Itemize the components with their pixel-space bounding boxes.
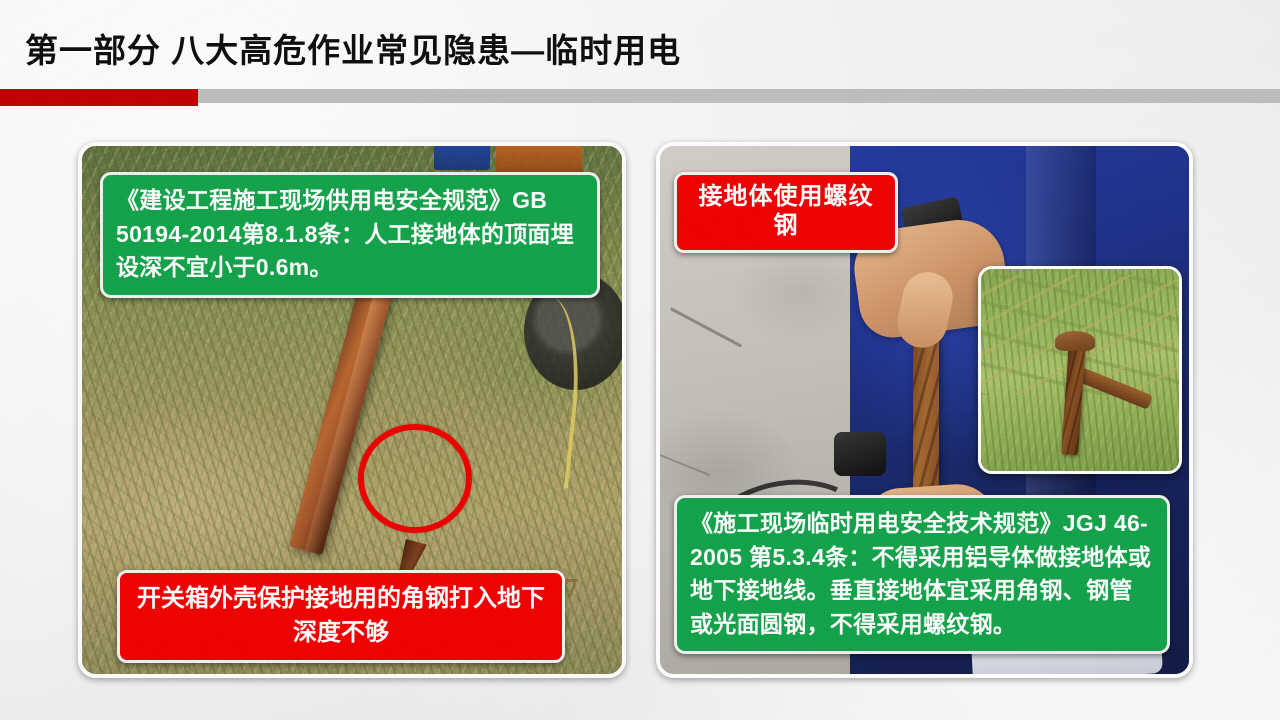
title-accent-rule <box>0 89 1280 106</box>
left-regulation-callout: 《建设工程施工现场供用电安全规范》GB 50194-2014第8.1.8条：人工… <box>100 172 600 298</box>
left-photo-panel: 17 《建设工程施工现场供用电安全规范》GB 50194-2014第8.1.8条… <box>78 142 626 678</box>
concrete-seam-2 <box>656 452 710 476</box>
left-regulation-text: 《建设工程施工现场供用电安全规范》GB 50194-2014第8.1.8条：人工… <box>103 175 597 295</box>
right-defect-callout: 接地体使用螺纹钢 <box>674 172 898 253</box>
right-defect-text: 接地体使用螺纹钢 <box>677 175 895 250</box>
inset-photo <box>978 266 1182 474</box>
concrete-seam <box>670 307 742 347</box>
right-photo-panel: 接地体使用螺纹钢 《施工现场临时用电安全技术规范》JGJ 46-2005 第5.… <box>656 142 1193 678</box>
annotation-circle <box>358 424 472 533</box>
slide-canvas: 第一部分 八大高危作业常见隐患—临时用电 17 《建设工程施工现场供用电安全规范… <box>0 0 1280 720</box>
page-title: 第一部分 八大高危作业常见隐患—临时用电 <box>25 24 681 72</box>
blue-object <box>434 144 490 170</box>
accent-bar-grey <box>198 89 1280 103</box>
left-defect-callout: 开关箱外壳保护接地用的角钢打入地下深度不够 <box>117 570 565 663</box>
inset-rebar-head <box>1055 331 1095 351</box>
right-regulation-text: 《施工现场临时用电安全技术规范》JGJ 46-2005 第5.3.4条：不得采用… <box>677 498 1167 651</box>
right-regulation-callout: 《施工现场临时用电安全技术规范》JGJ 46-2005 第5.3.4条：不得采用… <box>674 495 1170 654</box>
accent-bar-red <box>0 89 198 106</box>
cable-clamp-middle <box>834 432 886 476</box>
left-defect-text: 开关箱外壳保护接地用的角钢打入地下深度不够 <box>120 573 562 660</box>
